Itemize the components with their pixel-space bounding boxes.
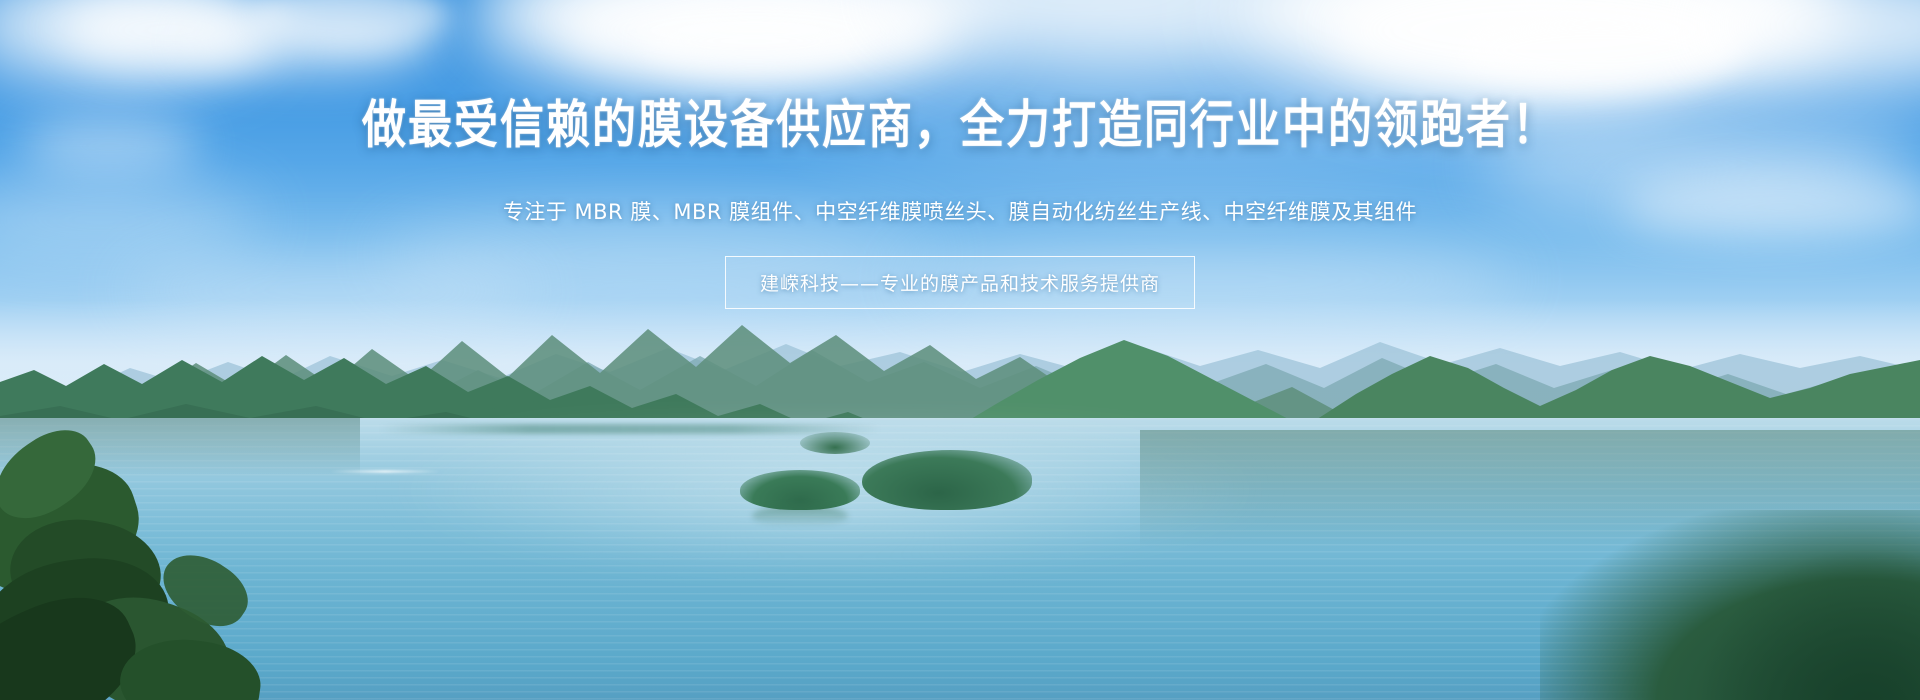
island-tiny-center	[800, 432, 870, 454]
distant-shoreline	[380, 424, 880, 434]
foreground-foliage-right-2	[1700, 550, 1920, 700]
hero-banner: 做最受信赖的膜设备供应商，全力打造同行业中的领跑者！ 专注于 MBR 膜、MBR…	[0, 0, 1920, 700]
boat-wake	[330, 470, 440, 473]
island-small-left	[740, 470, 860, 510]
island-small-left-reflection	[752, 505, 848, 527]
island-small-right	[862, 450, 1032, 510]
